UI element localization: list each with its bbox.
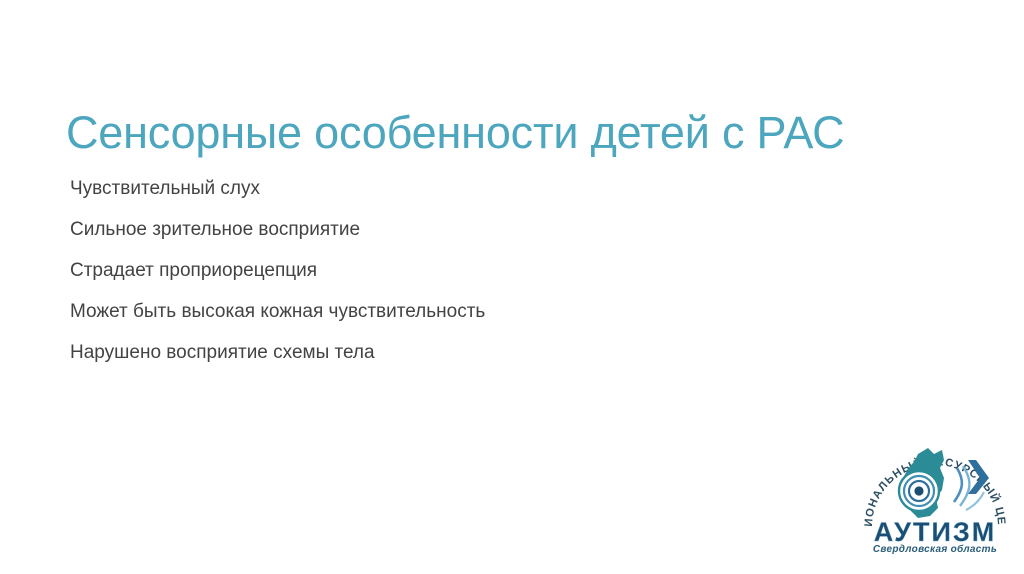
target-center-icon xyxy=(914,486,923,495)
list-item: Нарушено восприятие схемы тела xyxy=(70,332,770,373)
chevron-swoosh-icon xyxy=(968,460,989,494)
list-item: Сильное зрительное восприятие xyxy=(70,209,770,250)
list-item: Страдает проприорецепция xyxy=(70,250,770,291)
page-title: Сенсорные особенности детей с РАС xyxy=(66,106,844,160)
logo-wordmark: АУТИЗМ xyxy=(856,517,1014,547)
list-item: Может быть высокая кожная чувствительнос… xyxy=(70,291,770,332)
organization-logo: РЕГИОНАЛЬНЫЙ РЕСУРСНЫЙ ЦЕНТР АУТИЗМ Свер… xyxy=(856,432,1014,564)
logo-subtitle: Свердловская область xyxy=(856,544,1014,555)
bullet-list: Чувствительный слух Сильное зрительное в… xyxy=(70,168,770,373)
presentation-slide: Сенсорные особенности детей с РАС Чувств… xyxy=(0,0,1024,574)
swoosh-line-1-icon xyxy=(954,468,962,502)
swoosh-line-3-icon xyxy=(966,492,984,510)
list-item: Чувствительный слух xyxy=(70,168,770,209)
